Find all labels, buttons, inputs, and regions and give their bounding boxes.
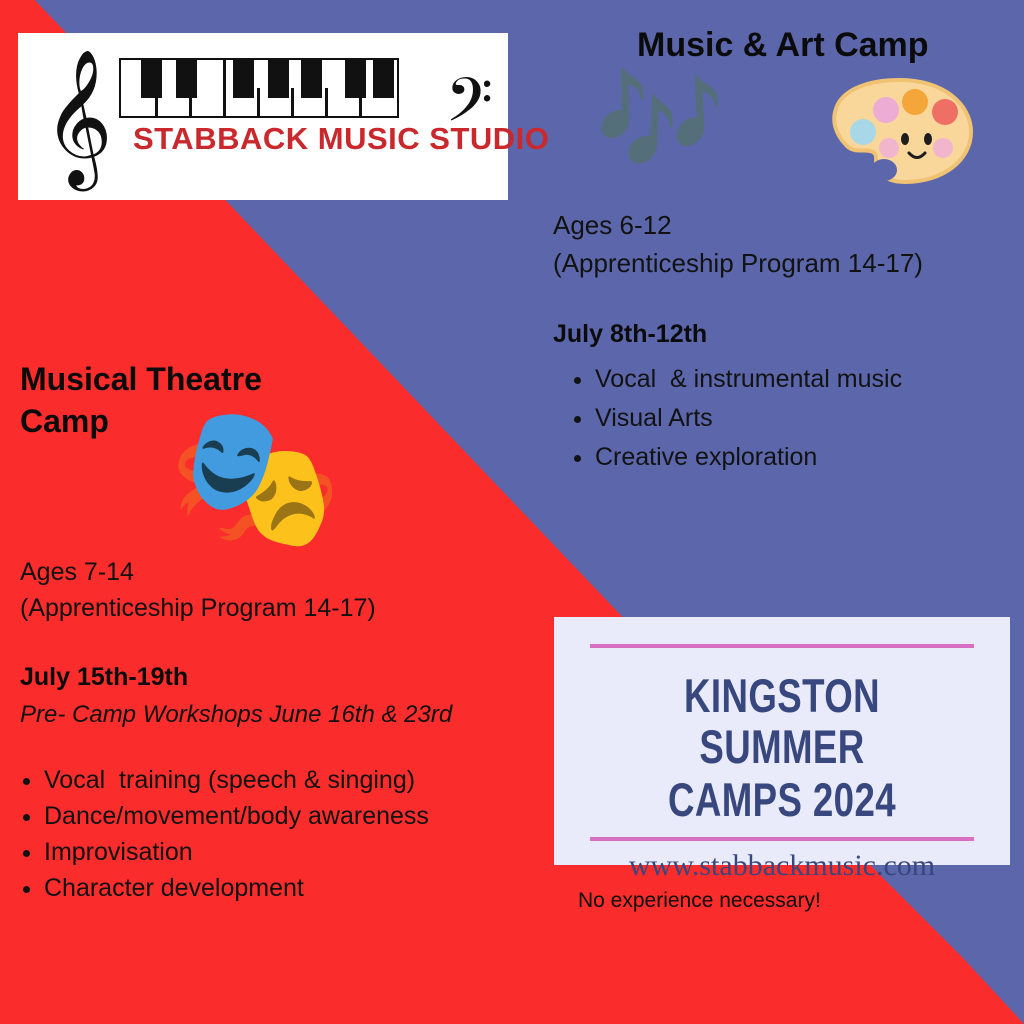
music-art-dates: July 8th-12th bbox=[553, 320, 707, 349]
card-divider-bottom bbox=[590, 837, 974, 841]
musical-theatre-apprenticeship: (Apprenticeship Program 14-17) bbox=[20, 590, 480, 626]
list-item: Visual Arts bbox=[595, 399, 1024, 438]
studio-logo-inner: 𝄞 𝄢 STABBACK bbox=[37, 47, 489, 187]
music-art-ages-block: Ages 6-12 (Apprenticeship Program 14-17) bbox=[553, 206, 1023, 282]
list-item: Improvisation bbox=[44, 834, 544, 870]
music-art-bullet-list: Vocal & instrumental music Visual Arts C… bbox=[555, 360, 1024, 477]
kingston-summer-camps-card: KINGSTON SUMMER CAMPS 2024 www.stabbackm… bbox=[554, 617, 1010, 865]
list-item: Character development bbox=[44, 870, 544, 906]
paint-palette-icon bbox=[825, 76, 975, 188]
musical-theatre-ages: Ages 7-14 bbox=[20, 554, 480, 590]
studio-logo-card: 𝄞 𝄢 STABBACK bbox=[18, 33, 508, 200]
music-art-apprenticeship: (Apprenticeship Program 14-17) bbox=[553, 244, 1023, 282]
musical-theatre-bullet-list: Vocal training (speech & singing) Dance/… bbox=[20, 762, 544, 906]
list-item: Dance/movement/body awareness bbox=[44, 798, 544, 834]
card-title-line-1: KINGSTON SUMMER bbox=[620, 670, 944, 772]
list-item: Creative exploration bbox=[595, 438, 1024, 477]
list-item: Vocal & instrumental music bbox=[595, 360, 1024, 399]
musical-theatre-dates: July 15th-19th bbox=[20, 663, 188, 692]
list-item: Vocal training (speech & singing) bbox=[44, 762, 544, 798]
website-url[interactable]: www.stabbackmusic.com bbox=[554, 849, 1010, 883]
music-art-ages: Ages 6-12 bbox=[553, 206, 1023, 244]
music-notes-icon: 🎶 bbox=[595, 68, 725, 172]
studio-logo-text: STABBACK MUSIC STUDIO bbox=[133, 121, 549, 157]
musical-theatre-ages-block: Ages 7-14 (Apprenticeship Program 14-17) bbox=[20, 554, 480, 626]
card-title-line-2: CAMPS 2024 bbox=[620, 774, 944, 825]
music-art-icon-row: 🎶 bbox=[585, 68, 1005, 198]
card-divider-top bbox=[590, 644, 974, 648]
poster-canvas: 𝄞 𝄢 STABBACK bbox=[0, 0, 1024, 1024]
no-experience-footnote: No experience necessary! bbox=[578, 889, 821, 913]
theatre-masks-icon: 🎭 bbox=[168, 408, 342, 548]
treble-clef-icon: 𝄞 bbox=[43, 57, 113, 175]
musical-theatre-precamp-note: Pre- Camp Workshops June 16th & 23rd bbox=[20, 698, 470, 731]
piano-keyboard-icon bbox=[119, 58, 399, 118]
